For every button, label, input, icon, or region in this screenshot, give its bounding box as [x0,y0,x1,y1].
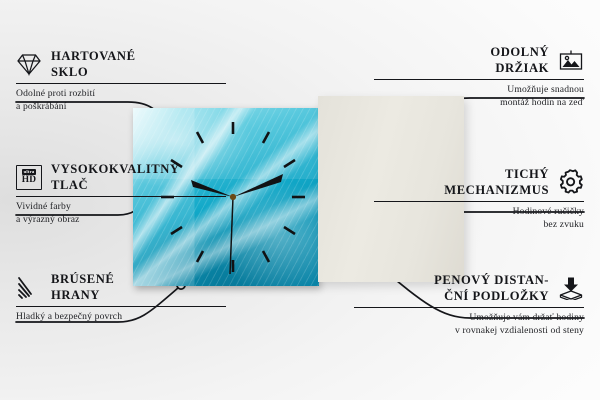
feature-title-line2: ČNÍ PODLOŽKY [434,288,549,304]
feature-divider [16,83,226,84]
feature-title: VYSOKOKVALITNÝ TLAČ [51,161,180,193]
feature-durable-hanger: ODOLNÝ DRŽIAK Umožňuje snadnou montáž ho… [374,44,584,110]
feature-header: PENOVÝ DISTAN- ČNÍ PODLOŽKY [354,272,584,304]
feature-desc-line2: a poškrábání [16,101,226,114]
feature-title-line1: HARTOVANÉ [51,48,136,64]
feature-description: Umožňuje vám držať hodiny v rovnakej vzd… [354,312,584,338]
feature-title-line2: SKLO [51,64,136,80]
feature-desc-line1: Hladký a bezpečný povrch [16,311,226,324]
ground-edges-icon [16,274,42,300]
feature-header: ultra HD VYSOKOKVALITNÝ TLAČ [16,161,226,193]
feature-description: Vividné farby a výrazný obraz [16,201,226,227]
feature-title-line1: BRÚSENÉ [51,271,114,287]
feature-silent-mechanism: TICHÝ MECHANIZMUS Hodinové ručičky bez z… [374,166,584,232]
feature-foam-spacers: PENOVÝ DISTAN- ČNÍ PODLOŽKY Umožňuje vám… [354,272,584,338]
feature-description: Odolné proti rozbití a poškrábání [16,88,226,114]
feature-description: Umožňuje snadnou montáž hodin na zeď [374,84,584,110]
gear-icon [558,169,584,195]
feature-desc-line2: v rovnakej vzdialenosti od steny [354,325,584,338]
feature-desc-line1: Umožňuje snadnou [374,84,584,97]
feature-desc-line1: Umožňuje vám držať hodiny [354,312,584,325]
feature-desc-line2: bez zvuku [374,219,584,232]
feature-title-line1: TICHÝ [444,166,549,182]
feature-header: HARTOVANÉ SKLO [16,48,226,80]
feature-title-line1: ODOLNÝ [490,44,549,60]
feature-title: TICHÝ MECHANIZMUS [444,166,549,198]
feature-desc-line2: montáž hodin na zeď [374,97,584,110]
feature-title-line1: VYSOKOKVALITNÝ [51,161,180,177]
feature-divider [374,79,584,80]
feature-title-line2: DRŽIAK [490,60,549,76]
feature-title-line2: MECHANIZMUS [444,182,549,198]
feature-title: ODOLNÝ DRŽIAK [490,44,549,76]
feature-title: BRÚSENÉ HRANY [51,271,114,303]
foam-spacer-icon [558,275,584,301]
feature-title: HARTOVANÉ SKLO [51,48,136,80]
feature-title-line2: HRANY [51,287,114,303]
feature-tempered-glass: HARTOVANÉ SKLO Odolné proti rozbití a po… [16,48,226,114]
feature-desc-line1: Vividné farby [16,201,226,214]
feature-header: ODOLNÝ DRŽIAK [374,44,584,76]
infographic-canvas: HARTOVANÉ SKLO Odolné proti rozbití a po… [0,0,600,400]
feature-desc-line1: Odolné proti rozbití [16,88,226,101]
feature-desc-line1: Hodinové ručičky [374,206,584,219]
feature-header: TICHÝ MECHANIZMUS [374,166,584,198]
diamond-icon [16,51,42,77]
feature-ground-edges: BRÚSENÉ HRANY Hladký a bezpečný povrch [16,271,226,324]
ultra-hd-icon: ultra HD [16,164,42,190]
feature-high-quality-print: ultra HD VYSOKOKVALITNÝ TLAČ Vividné far… [16,161,226,227]
ultra-hd-badge-main: HD [22,176,36,185]
feature-description: Hladký a bezpečný povrch [16,311,226,324]
feature-title-line1: PENOVÝ DISTAN- [434,272,549,288]
feature-title-line2: TLAČ [51,177,180,193]
feature-description: Hodinové ručičky bez zvuku [374,206,584,232]
feature-header: BRÚSENÉ HRANY [16,271,226,303]
feature-title: PENOVÝ DISTAN- ČNÍ PODLOŽKY [434,272,549,304]
feature-divider [16,306,226,307]
picture-hanger-icon [558,47,584,73]
feature-desc-line2: a výrazný obraz [16,214,226,227]
feature-divider [16,196,226,197]
feature-divider [374,201,584,202]
feature-divider [354,307,584,308]
